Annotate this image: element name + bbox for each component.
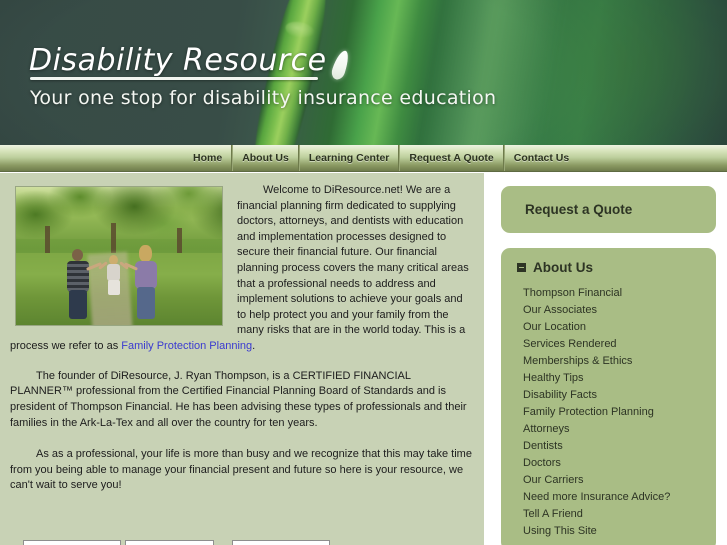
bottom-input-field-1[interactable] <box>23 540 121 545</box>
main-navigation: Home About Us Learning Center Request A … <box>0 145 727 172</box>
page-root: Disability Resource Your one stop for di… <box>0 0 727 545</box>
bottom-input-field-3[interactable] <box>232 540 330 545</box>
about-us-panel: About Us Thompson Financial Our Associat… <box>501 248 716 545</box>
intro-text-after-link: . <box>252 340 255 352</box>
request-a-quote-box[interactable]: Request a Quote <box>501 186 716 233</box>
sidebar: Request a Quote About Us Thompson Financ… <box>496 173 727 545</box>
founder-paragraph: The founder of DiResource, J. Ryan Thomp… <box>10 369 472 431</box>
sidebar-item-disability-facts[interactable]: Disability Facts <box>515 387 702 404</box>
sidebar-item-thompson-financial[interactable]: Thompson Financial <box>515 285 702 302</box>
photo-figure-adult-right <box>133 241 160 319</box>
sidebar-item-using-this-site[interactable]: Using This Site <box>515 523 702 540</box>
bottom-input-field-2[interactable] <box>125 540 214 545</box>
about-us-panel-header[interactable]: About Us <box>515 257 702 282</box>
nav-item-learning-center[interactable]: Learning Center <box>299 145 400 171</box>
sidebar-item-doctors[interactable]: Doctors <box>515 455 702 472</box>
bottom-form-row <box>0 540 484 545</box>
sidebar-item-family-protection-planning[interactable]: Family Protection Planning <box>515 404 702 421</box>
hero-family-photo <box>15 186 223 326</box>
sidebar-item-dentists[interactable]: Dentists <box>515 438 702 455</box>
sidebar-item-our-associates[interactable]: Our Associates <box>515 302 702 319</box>
sidebar-item-attorneys[interactable]: Attorneys <box>515 421 702 438</box>
closing-paragraph: As as a professional, your life is more … <box>10 447 472 494</box>
site-title: Disability Resource <box>29 43 327 78</box>
sidebar-item-healthy-tips[interactable]: Healthy Tips <box>515 370 702 387</box>
site-tagline: Your one stop for disability insurance e… <box>30 87 496 109</box>
site-header-banner: Disability Resource Your one stop for di… <box>0 0 727 145</box>
nav-item-contact-us[interactable]: Contact Us <box>504 145 578 171</box>
sidebar-item-our-location[interactable]: Our Location <box>515 319 702 336</box>
sidebar-item-tell-a-friend[interactable]: Tell A Friend <box>515 506 702 523</box>
sidebar-item-memberships-ethics[interactable]: Memberships & Ethics <box>515 353 702 370</box>
sidebar-item-our-carriers[interactable]: Our Carriers <box>515 472 702 489</box>
about-us-link-list: Thompson Financial Our Associates Our Lo… <box>515 285 702 540</box>
nav-item-request-a-quote[interactable]: Request A Quote <box>399 145 503 171</box>
sidebar-item-need-more-insurance-advice[interactable]: Need more Insurance Advice? <box>515 489 702 506</box>
request-a-quote-button[interactable]: Request a Quote <box>515 195 702 224</box>
family-protection-planning-link[interactable]: Family Protection Planning <box>121 340 252 352</box>
about-us-panel-title: About Us <box>533 260 593 275</box>
photo-figure-adult-left <box>65 243 92 319</box>
site-title-underline <box>30 77 318 80</box>
nav-item-home[interactable]: Home <box>184 145 232 171</box>
main-content: Welcome to DiResource.net! We are a fina… <box>0 173 484 545</box>
minus-square-icon[interactable] <box>517 263 526 272</box>
nav-item-about-us[interactable]: About Us <box>232 145 299 171</box>
photo-figure-child <box>105 255 123 295</box>
sidebar-item-services-rendered[interactable]: Services Rendered <box>515 336 702 353</box>
